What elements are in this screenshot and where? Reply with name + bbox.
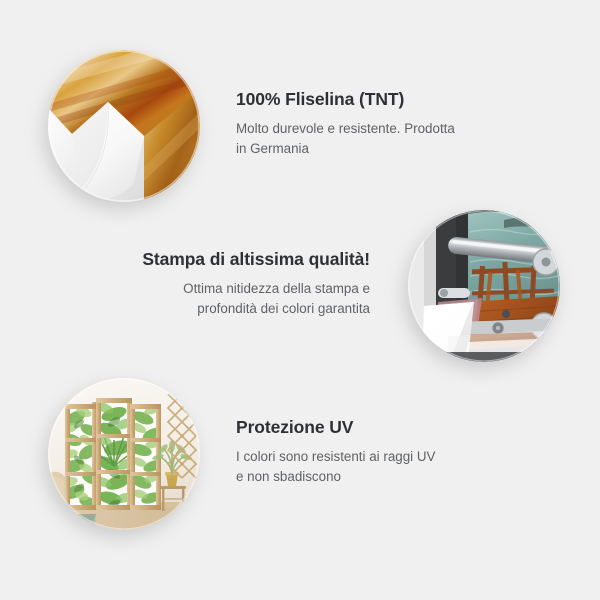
- wallpaper-peeling-corner-photo: [48, 50, 200, 202]
- media-wrap-protezione-uv: [40, 372, 200, 532]
- media-wrap-stampa-qualita: [400, 204, 560, 364]
- feature-body-line-1: Molto durevole e resistente. Prodotta: [236, 121, 455, 136]
- feature-body: Ottima nitidezza della stampa eprofondit…: [84, 279, 370, 319]
- feature-body-line-2: e non sbadiscono: [236, 469, 341, 484]
- printing-press-photo: [408, 210, 560, 362]
- feature-row-stampa-qualita: Stampa di altissima qualità! Ottima niti…: [80, 204, 560, 364]
- copy-block-stampa-qualita: Stampa di altissima qualità! Ottima niti…: [80, 249, 374, 319]
- feature-body-line-2: in Germania: [236, 141, 309, 156]
- feature-headline: 100% Fliselina (TNT): [236, 89, 556, 110]
- feature-body: I colori sono resistenti ai raggi UVe no…: [236, 447, 556, 487]
- tropical-room-divider-photo: [48, 378, 200, 530]
- feature-body-line-1: I colori sono resistenti ai raggi UV: [236, 449, 435, 464]
- feature-row-fliselina: 100% Fliselina (TNT) Molto durevole e re…: [40, 44, 560, 204]
- feature-body-line-1: Ottima nitidezza della stampa e: [183, 281, 370, 296]
- copy-block-fliselina: 100% Fliselina (TNT) Molto durevole e re…: [232, 89, 560, 159]
- media-wrap-fliselina: [40, 44, 200, 204]
- feature-headline: Protezione UV: [236, 417, 556, 438]
- feature-body: Molto durevole e resistente. Prodottain …: [236, 119, 556, 159]
- copy-block-protezione-uv: Protezione UV I colori sono resistenti a…: [232, 417, 560, 487]
- feature-row-protezione-uv: Protezione UV I colori sono resistenti a…: [40, 372, 560, 532]
- feature-body-line-2: profondità dei colori garantita: [197, 301, 370, 316]
- feature-board: 100% Fliselina (TNT) Molto durevole e re…: [0, 0, 600, 600]
- feature-headline: Stampa di altissima qualità!: [84, 249, 370, 270]
